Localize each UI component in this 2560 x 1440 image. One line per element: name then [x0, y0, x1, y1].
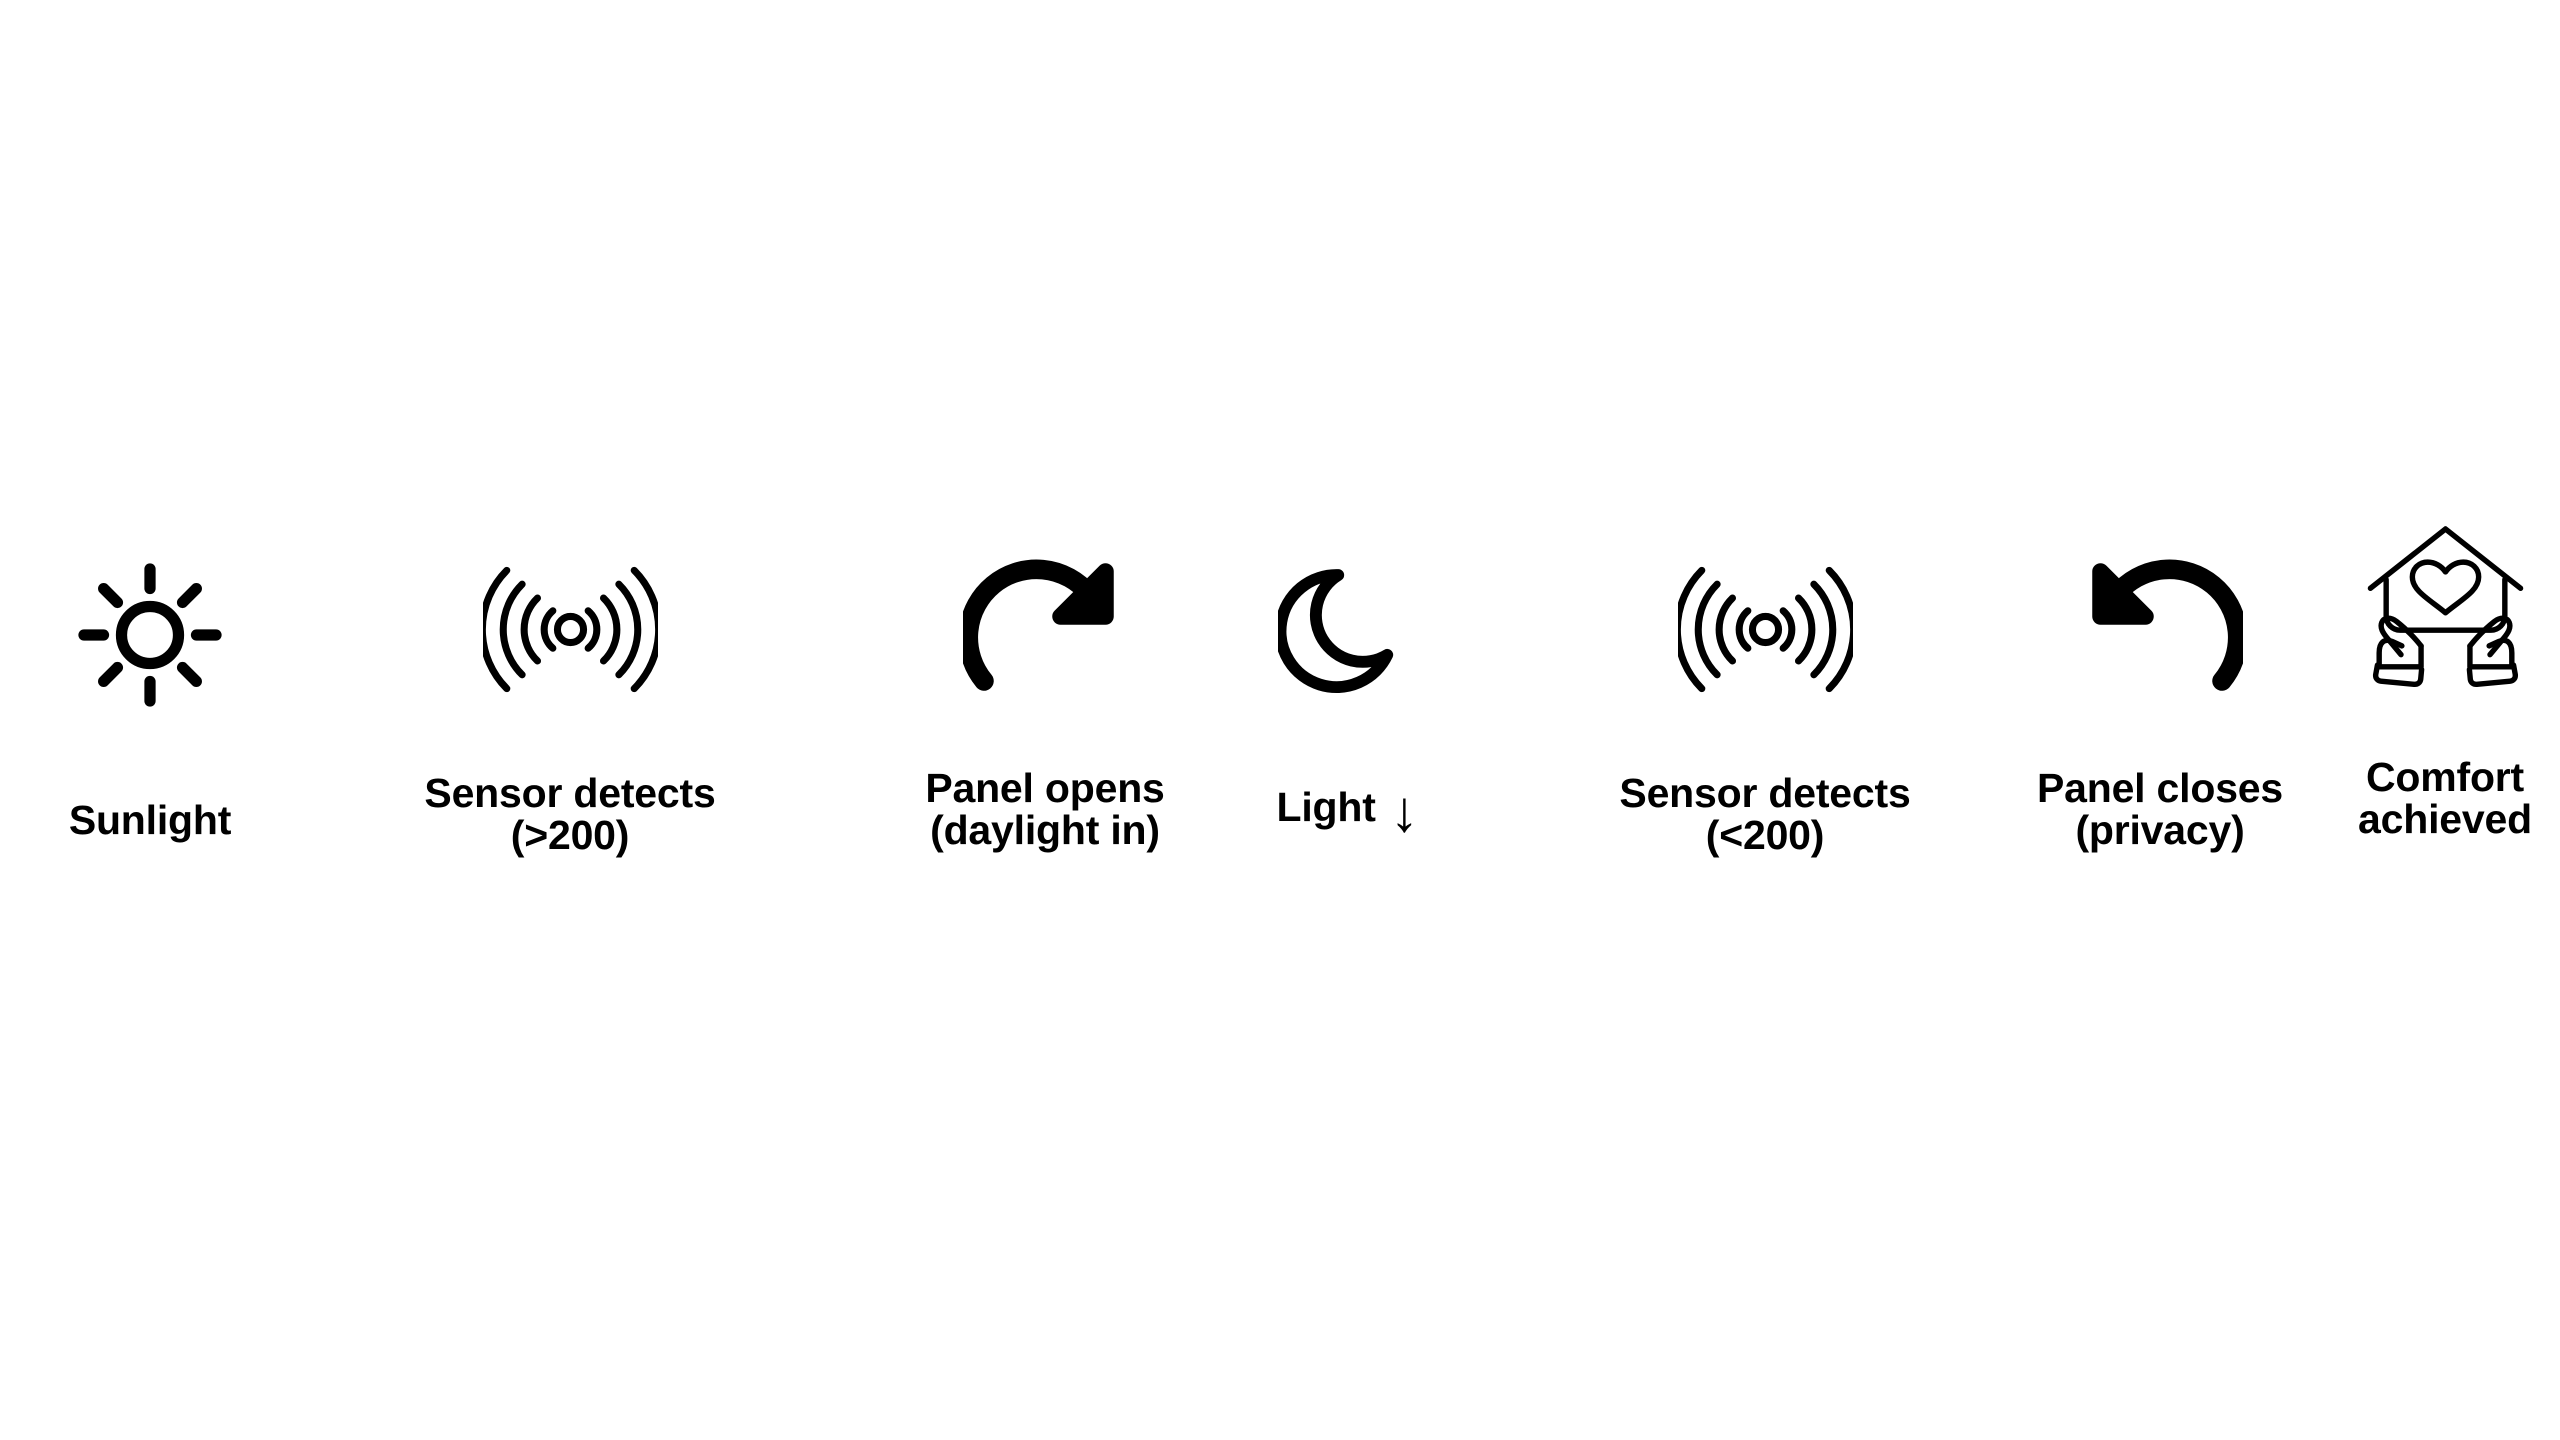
rotate-left-arrow-icon: [2078, 552, 2243, 702]
flow-step-light-down: Light ↓: [1255, 560, 1440, 832]
flow-step-label: Panel closes (privacy): [2037, 768, 2283, 852]
crescent-moon-icon: [1278, 560, 1418, 705]
signal-waves-icon: [483, 552, 658, 707]
flow-step-label: Comfort achieved: [2358, 757, 2532, 841]
flow-step-panel-closes: Panel closes (privacy): [1990, 552, 2330, 852]
house-heart-hands-icon: [2353, 520, 2538, 695]
flow-step-label: Sensor detects (>200): [424, 773, 715, 857]
flow-step-label: Light ↓: [1277, 787, 1419, 832]
sun-icon: [75, 560, 225, 710]
arrow-down-icon: ↓: [1390, 789, 1419, 834]
signal-waves-icon: [1678, 552, 1853, 707]
flow-step-label: Sensor detects (<200): [1619, 773, 1910, 857]
flow-step-sensor-low: Sensor detects (<200): [1565, 552, 1965, 857]
flow-step-label: Sunlight: [69, 800, 231, 842]
flow-step-panel-opens: Panel opens (daylight in): [860, 552, 1230, 852]
light-text: Light: [1277, 787, 1376, 829]
flow-step-sensor-high: Sensor detects (>200): [350, 552, 790, 857]
flow-step-comfort-achieved: Comfort achieved: [2330, 520, 2560, 841]
flow-step-label: Panel opens (daylight in): [925, 768, 1164, 852]
flow-step-sunlight: Sunlight: [30, 560, 270, 842]
process-flow-diagram: Sunlight Sensor detects (>200): [0, 0, 2560, 1440]
rotate-right-arrow-icon: [963, 552, 1128, 702]
